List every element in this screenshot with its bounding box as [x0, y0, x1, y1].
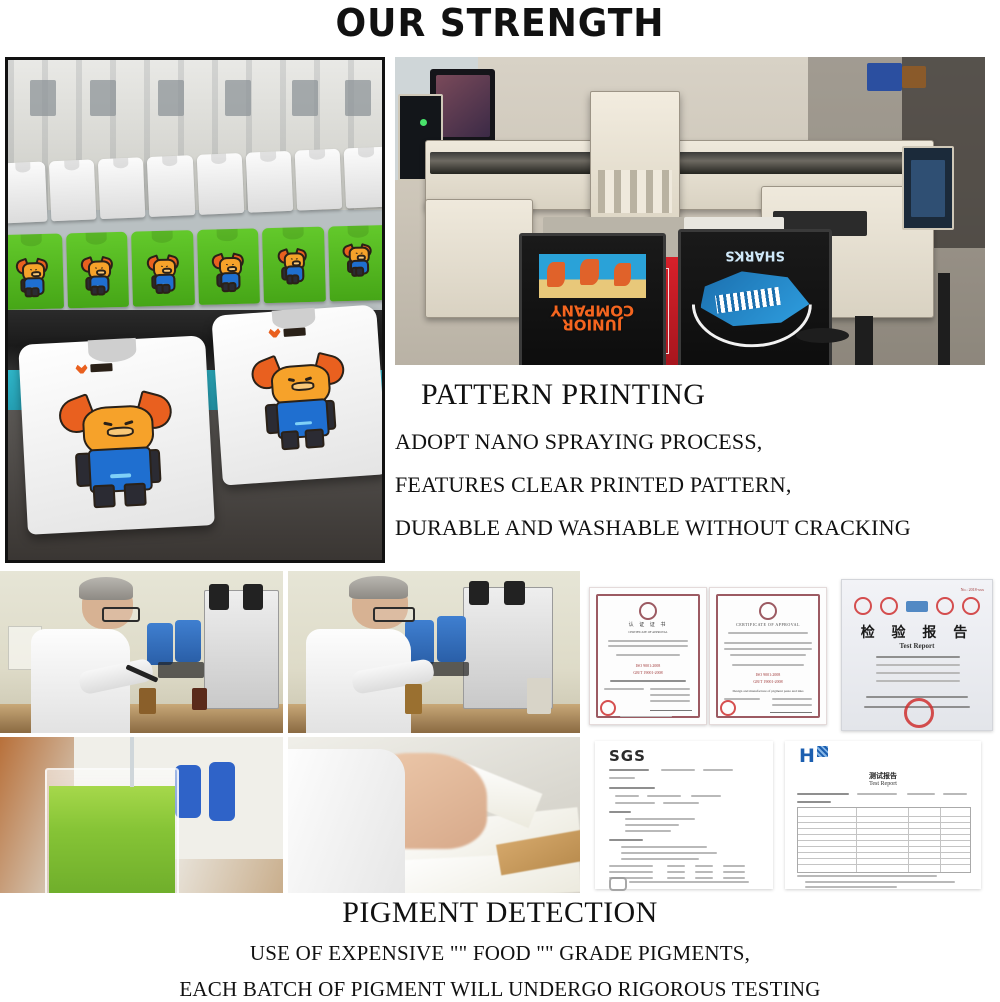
report-number: No.: 2018-xxx	[961, 587, 984, 592]
printed-tshirt-back	[212, 304, 385, 485]
page-title: OUR STRENGTH	[25, 0, 975, 46]
photo-hand-holding-samples	[288, 737, 580, 893]
brand-wordmark	[90, 363, 112, 372]
sharks-art-text: SHARKS	[703, 247, 807, 262]
cert-left-standard-2: GB/T 19001-2008	[633, 670, 662, 675]
poster-root: OUR STRENGTH	[0, 0, 1000, 1000]
certificates-row-bottom: SGS	[585, 737, 1000, 893]
photo-lab-chemist-right	[288, 571, 580, 733]
cert-left-en-title: CERTIFICATE OF APPROVAL	[628, 630, 667, 634]
pigment-detection-line-1: USE OF EXPENSIVE "" FOOD "" GRADE PIGMEN…	[0, 941, 1000, 966]
certificate-sgs-report: SGS	[595, 741, 773, 889]
bull-logo-icon	[269, 328, 282, 338]
sgs-logo: SGS	[609, 747, 646, 765]
photo-dtg-printer: JUNIOR COMPANY SHARKS	[395, 57, 985, 365]
bull-logo-icon	[75, 364, 87, 374]
seal-gb-icon	[962, 597, 980, 615]
h-report-en-title: Test Report	[869, 781, 897, 787]
junior-company-art-text: JUNIOR COMPANY	[530, 303, 655, 331]
photo-green-pigment-beaker	[0, 737, 283, 893]
seal-ccc-icon	[880, 597, 898, 615]
green-pigment-liquid	[49, 786, 175, 893]
photo-screen-printing-carousel	[5, 57, 385, 563]
safety-glasses	[373, 607, 415, 622]
seal-cqc-icon	[854, 597, 872, 615]
report-en-title: Test Report	[900, 642, 935, 650]
pattern-printing-line-1: ADOPT NANO SPRAYING PROCESS,	[395, 429, 995, 455]
pigment-detection-heading: PIGMENT DETECTION	[0, 896, 1000, 930]
h-logo: H	[799, 745, 815, 767]
certificates-row-top: 认 证 证 书 CERTIFICATE OF APPROVAL ISO 9001…	[585, 571, 1000, 733]
cert-right-en-title: CERTIFICATE OF APPROVAL	[736, 622, 800, 627]
pattern-printing-block: PATTERN PRINTING ADOPT NANO SPRAYING PRO…	[395, 378, 995, 541]
printer-lcd-panel[interactable]	[902, 146, 953, 230]
green-shirt-row	[5, 225, 385, 310]
photo-lab-chemist-left	[0, 571, 283, 733]
stirring-rod	[130, 737, 134, 787]
certificate-h-report: H 测试报告 Test Report	[785, 741, 981, 889]
glass-beaker	[45, 768, 179, 893]
cert-left-standard-1: ISO 9001:2008	[636, 663, 661, 668]
lab-coat-sleeve	[288, 749, 405, 893]
printed-tshirt-front	[18, 335, 215, 535]
report-cn-title: 检 验 报 告	[861, 622, 974, 642]
printhead-carriage	[590, 91, 681, 222]
seal-cnas-icon	[906, 601, 928, 612]
agency-seals-row	[854, 598, 980, 614]
h-report-table	[797, 807, 971, 873]
cert-right-scope: Design and manufacture of pigment paste …	[732, 689, 803, 693]
cert-right-standard-2: GB/T 19001-2008	[753, 679, 782, 684]
brand-wordmark	[284, 327, 307, 337]
certificate-iso-left: 认 证 证 书 CERTIFICATE OF APPROVAL ISO 9001…	[589, 587, 707, 725]
cert-right-standard-1: ISO 9001:2008	[756, 672, 781, 677]
tshirt-black-sharks: SHARKS	[678, 229, 832, 365]
pigment-detection-line-2: EACH BATCH OF PIGMENT WILL UNDERGO RIGOR…	[0, 977, 1000, 1002]
h-logo-square-icon	[817, 746, 828, 757]
pattern-printing-line-2: FEATURES CLEAR PRINTED PATTERN,	[395, 472, 995, 498]
pattern-printing-heading: PATTERN PRINTING	[421, 378, 995, 412]
h-report-cn-title: 测试报告	[869, 771, 897, 781]
tshirt-black-junior: JUNIOR COMPANY	[519, 233, 667, 365]
seal-iso-icon	[936, 597, 954, 615]
certificate-test-report: No.: 2018-xxx 检 验 报 告 Test Report	[841, 579, 993, 731]
certificate-iso-right: CERTIFICATE OF APPROVAL ISO 9001:2008 GB…	[709, 587, 827, 725]
pattern-printing-line-3: DURABLE AND WASHABLE WITHOUT CRACKING	[395, 515, 995, 541]
cert-left-cn-title: 认 证 证 书	[629, 621, 668, 628]
safety-glasses	[102, 607, 140, 622]
pigment-detection-block: PIGMENT DETECTION USE OF EXPENSIVE "" FO…	[0, 896, 1000, 1002]
